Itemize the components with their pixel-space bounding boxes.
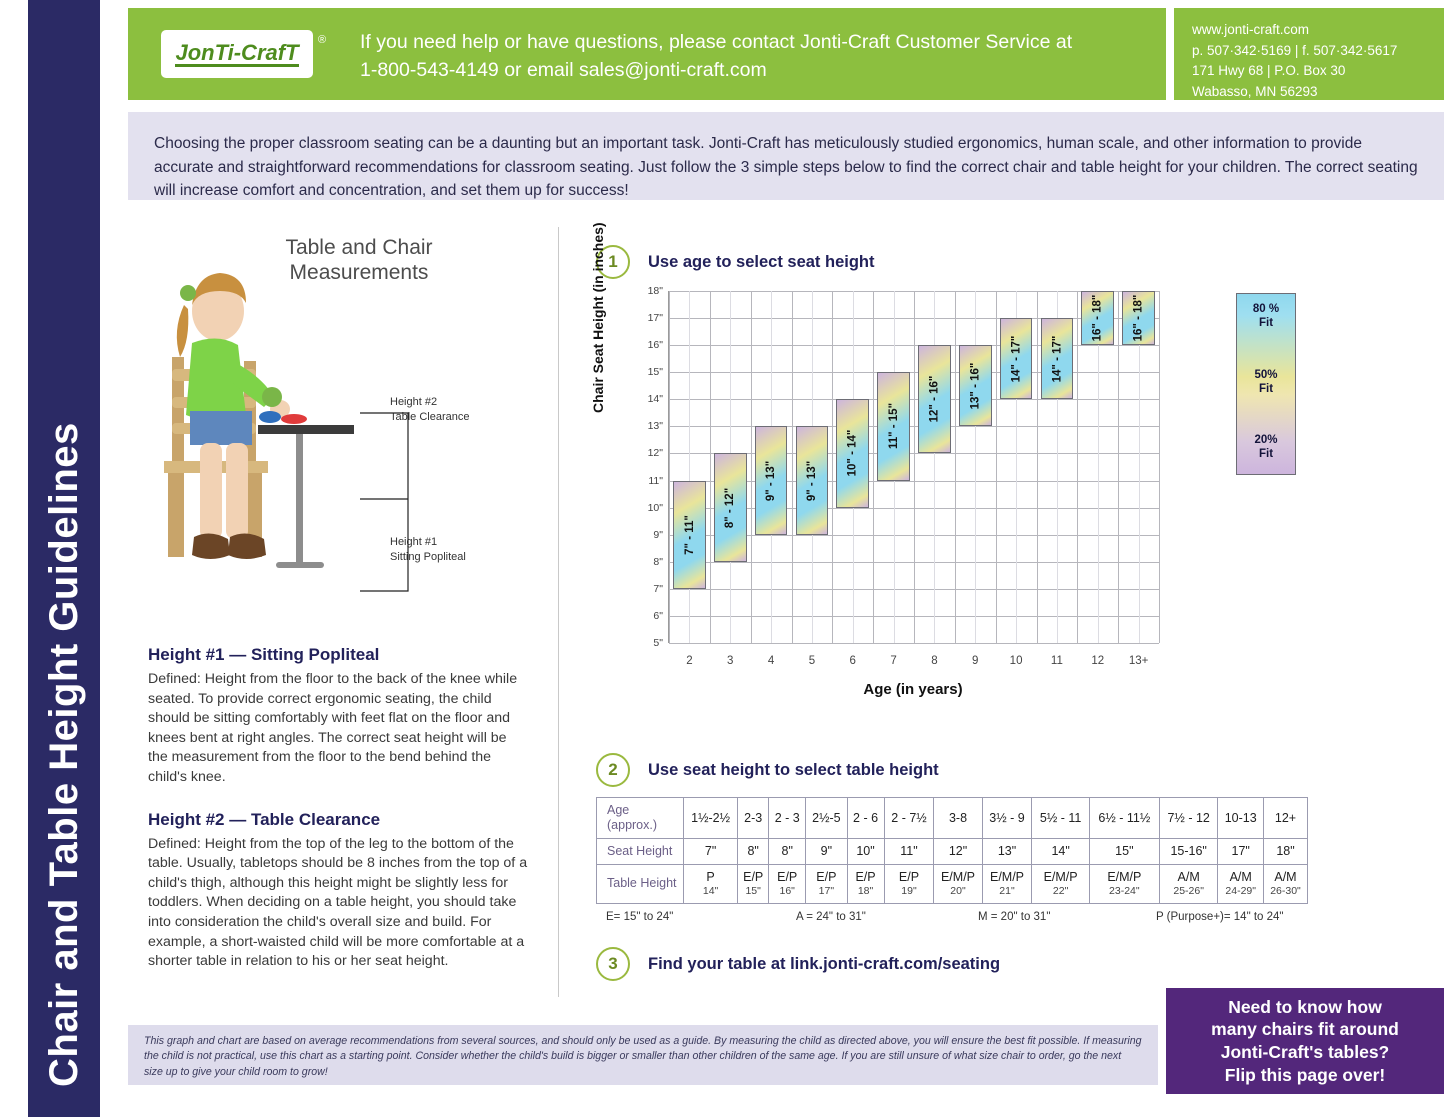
chart-x-tick: 11	[1051, 655, 1063, 667]
table-cell: 1½-2½	[684, 798, 738, 839]
header-message-line1: If you need help or have questions, plea…	[360, 28, 1150, 56]
chart-y-tick: 7"	[653, 583, 663, 595]
chart-bar: 16" - 18"	[1122, 291, 1155, 345]
chart-gridline-v	[1118, 291, 1119, 643]
table-cell: 14"	[1032, 839, 1089, 865]
chart-bar-label: 11" - 15"	[888, 403, 900, 449]
height-1-section: Height #1 — Sitting Popliteal Defined: H…	[148, 645, 528, 994]
contact-website[interactable]: www.jonti-craft.com	[1192, 20, 1444, 41]
chart-gridline-v	[914, 291, 915, 643]
table-cell: 2½-5	[806, 798, 847, 839]
chart-bar: 9" - 13"	[796, 426, 829, 534]
child-seated-photo	[148, 265, 358, 595]
table-cell: 2-3	[738, 798, 769, 839]
chart-gridline-v-minor	[689, 291, 690, 643]
chart-x-tick: 12	[1091, 655, 1104, 667]
header-message-line2: 1-800-543-4149 or email sales@jonti-craf…	[360, 56, 1150, 84]
contact-phone-fax: p. 507·342·5169 | f. 507·342·5617	[1192, 41, 1444, 62]
chart-x-tick: 7	[890, 655, 896, 667]
table-cell: E/P17"	[806, 865, 847, 904]
chart-x-tick: 9	[972, 655, 978, 667]
column-divider	[558, 227, 559, 997]
chart-y-tick: 18"	[648, 285, 663, 297]
header-banner: JonTi-CrafT ® If you need help or have q…	[128, 8, 1166, 100]
height-2-body: Defined: Height from the top of the leg …	[148, 835, 528, 972]
table-cell: 13"	[982, 839, 1032, 865]
chart-bar-label: 9" - 13"	[765, 460, 777, 500]
chart-bar: 16" - 18"	[1081, 291, 1114, 345]
chart-x-axis-label: Age (in years)	[668, 681, 1158, 698]
table-cell: 6½ - 11½	[1089, 798, 1159, 839]
table-row-header: Seat Height	[597, 839, 684, 865]
table-key-row: E= 15" to 24" A = 24" to 31" M = 20" to …	[596, 911, 1308, 927]
table-cell: E/P19"	[884, 865, 934, 904]
chart-gridline-v	[955, 291, 956, 643]
table-cell: E/P18"	[847, 865, 884, 904]
chart-plot-area: 5"6"7"8"9"10"11"12"13"14"15"16"17"18"7" …	[668, 291, 1159, 643]
contact-address-line1: 171 Hwy 68 | P.O. Box 30	[1192, 61, 1444, 82]
measurements-title-line1: Table and Chair	[178, 235, 540, 260]
seat-height-chart: Chair Seat Height (in inches) 5"6"7"8"9"…	[596, 283, 1426, 753]
table-row: Table HeightP14"E/P15"E/P16"E/P17"E/P18"…	[597, 865, 1308, 904]
chart-bar-label: 16" - 18"	[1133, 295, 1145, 342]
chart-gridline-h	[669, 643, 1159, 644]
chart-bar-label: 12" - 16"	[928, 376, 940, 423]
chart-y-tick: 16"	[648, 339, 663, 351]
chart-bar: 12" - 16"	[918, 345, 951, 453]
height-2-heading: Height #2 — Table Clearance	[148, 810, 528, 830]
chart-gridline-v	[873, 291, 874, 643]
chart-y-tick: 14"	[648, 393, 663, 405]
height-1-body: Defined: Height from the floor to the ba…	[148, 670, 528, 788]
table-cell: 5½ - 11	[1032, 798, 1089, 839]
chart-gridline-v	[710, 291, 711, 643]
chart-gridline-v	[792, 291, 793, 643]
chart-gridline-v	[996, 291, 997, 643]
table-cell: A/M24-29"	[1218, 865, 1264, 904]
height-1-heading: Height #1 — Sitting Popliteal	[148, 645, 528, 665]
table-cell: A/M26-30"	[1264, 865, 1308, 904]
chart-bar: 11" - 15"	[877, 372, 910, 480]
chart-bar-label: 16" - 18"	[1092, 295, 1104, 342]
chart-y-tick: 15"	[648, 366, 663, 378]
chart-y-tick: 6"	[653, 610, 663, 622]
table-cell: 2 - 7½	[884, 798, 934, 839]
chart-gridline-v	[1037, 291, 1038, 643]
table-cell: 17"	[1218, 839, 1264, 865]
table-cell: 7"	[684, 839, 738, 865]
chart-bar: 14" - 17"	[1041, 318, 1074, 399]
table-cell: 2 - 3	[769, 798, 806, 839]
chart-bar: 10" - 14"	[836, 399, 869, 507]
table-cell: 10"	[847, 839, 884, 865]
chart-x-tick: 10	[1010, 655, 1023, 667]
chart-y-tick: 5"	[653, 637, 663, 649]
vertical-title-bar: Chair and Table Height Guidelines	[28, 0, 100, 1117]
chart-y-tick: 10"	[648, 502, 663, 514]
chart-bar: 8" - 12"	[714, 453, 747, 561]
table-cell: 9"	[806, 839, 847, 865]
child-chair-illustration	[148, 265, 358, 595]
contact-address-line2: Wabasso, MN 56293	[1192, 82, 1444, 103]
seat-to-table-height-table: Age (approx.)1½-2½2-32 - 32½-52 - 62 - 7…	[596, 797, 1308, 904]
chart-y-tick: 12"	[648, 447, 663, 459]
flip-line4: Flip this page over!	[1225, 1065, 1385, 1085]
chart-gridline-v	[669, 291, 670, 643]
page-title: Chair and Table Height Guidelines	[28, 0, 100, 1117]
flip-page-callout: Need to know how many chairs fit around …	[1166, 988, 1444, 1094]
chart-y-tick: 11"	[648, 475, 663, 487]
table-cell: 15-16"	[1159, 839, 1217, 865]
chart-x-tick: 13+	[1129, 655, 1149, 667]
chart-bar-label: 14" - 17"	[1010, 335, 1022, 382]
step-3-header: 3 Find your table at link.jonti-craft.co…	[596, 947, 1000, 981]
chart-x-tick: 2	[686, 655, 692, 667]
step-3-label[interactable]: Find your table at link.jonti-craft.com/…	[648, 955, 1000, 974]
chart-bar-label: 13" - 16"	[969, 362, 981, 409]
flip-line1: Need to know how	[1228, 997, 1382, 1017]
chart-y-tick: 17"	[648, 312, 663, 324]
chart-fit-legend: 80 %Fit 50%Fit 20%Fit	[1236, 293, 1296, 475]
chart-bar: 13" - 16"	[959, 345, 992, 426]
table-cell: 12+	[1264, 798, 1308, 839]
step-1-label: Use age to select seat height	[648, 253, 875, 272]
table-cell: 3½ - 9	[982, 798, 1032, 839]
seat-table-wrap: Age (approx.)1½-2½2-32 - 32½-52 - 62 - 7…	[596, 797, 1426, 927]
chart-x-tick: 6	[850, 655, 856, 667]
intro-text: Choosing the proper classroom seating ca…	[128, 112, 1444, 203]
chart-y-tick: 9"	[653, 529, 663, 541]
chart-y-tick: 13"	[648, 420, 663, 432]
table-cell: P14"	[684, 865, 738, 904]
table-row-header: Age (approx.)	[597, 798, 684, 839]
main-content: Table and Chair Measurements	[128, 205, 1444, 1017]
table-cell: 10-13	[1218, 798, 1264, 839]
key-M: M = 20" to 31"	[978, 911, 1050, 923]
chart-gridline-v	[751, 291, 752, 643]
jonti-craft-logo: JonTi-CrafT	[161, 30, 313, 78]
table-cell: E/M/P23-24"	[1089, 865, 1159, 904]
table-cell: 8"	[769, 839, 806, 865]
footer-disclaimer-panel: This graph and chart are based on averag…	[128, 1025, 1158, 1085]
chart-x-tick: 5	[809, 655, 815, 667]
table-cell: 12"	[934, 839, 982, 865]
callout-bracket-lines	[360, 403, 420, 603]
chart-gridline-v-minor	[934, 291, 935, 643]
chart-bar: 9" - 13"	[755, 426, 788, 534]
table-cell: 18"	[1264, 839, 1308, 865]
chart-gridline-v	[832, 291, 833, 643]
contact-block: www.jonti-craft.com p. 507·342·5169 | f.…	[1174, 8, 1444, 100]
table-cell: 15"	[1089, 839, 1159, 865]
step-2-label: Use seat height to select table height	[648, 761, 939, 780]
table-row: Seat Height7"8"8"9"10"11"12"13"14"15"15-…	[597, 839, 1308, 865]
flip-line3: Jonti-Craft's tables?	[1221, 1042, 1390, 1062]
table-row: Age (approx.)1½-2½2-32 - 32½-52 - 62 - 7…	[597, 798, 1308, 839]
chart-gridline-v	[1159, 291, 1160, 643]
chart-y-axis-label: Chair Seat Height (in inches)	[590, 222, 606, 413]
table-cell: E/M/P21"	[982, 865, 1032, 904]
key-E: E= 15" to 24"	[606, 911, 673, 923]
table-cell: 3-8	[934, 798, 982, 839]
chart-bar: 14" - 17"	[1000, 318, 1033, 399]
chart-gridline-v	[1077, 291, 1078, 643]
table-cell: E/M/P22"	[1032, 865, 1089, 904]
table-cell: E/P15"	[738, 865, 769, 904]
header-message: If you need help or have questions, plea…	[360, 28, 1150, 85]
chart-bar-label: 8" - 12"	[724, 487, 736, 527]
chart-bar-label: 9" - 13"	[806, 460, 818, 500]
table-cell: A/M25-26"	[1159, 865, 1217, 904]
chart-x-tick: 4	[768, 655, 774, 667]
step-3-number: 3	[596, 947, 630, 981]
table-cell: 7½ - 12	[1159, 798, 1217, 839]
chart-x-tick: 8	[931, 655, 937, 667]
step-2-number: 2	[596, 753, 630, 787]
step-1-header: 1 Use age to select seat height	[596, 245, 1426, 279]
chart-x-tick: 3	[727, 655, 733, 667]
chart-bar-label: 7" - 11"	[683, 515, 695, 555]
table-cell: E/M/P20"	[934, 865, 982, 904]
key-A: A = 24" to 31"	[796, 911, 866, 923]
legend-entry-20: 20%Fit	[1254, 434, 1277, 462]
table-cell: 8"	[738, 839, 769, 865]
flip-line2: many chairs fit around	[1211, 1019, 1399, 1039]
intro-panel: Choosing the proper classroom seating ca…	[128, 112, 1444, 200]
chart-bar-label: 10" - 14"	[847, 430, 859, 477]
registered-mark-icon: ®	[318, 34, 326, 46]
chart-gridline-v-minor	[975, 291, 976, 643]
legend-entry-80: 80 %Fit	[1253, 303, 1279, 331]
table-row-header: Table Height	[597, 865, 684, 904]
chart-bar-label: 14" - 17"	[1051, 335, 1063, 382]
table-cell: 2 - 6	[847, 798, 884, 839]
legend-entry-50: 50%Fit	[1254, 369, 1277, 397]
chart-y-tick: 8"	[653, 556, 663, 568]
chart-bar: 7" - 11"	[673, 481, 706, 589]
logo-text: JonTi-CrafT	[175, 41, 298, 67]
table-cell: 11"	[884, 839, 934, 865]
table-cell: E/P16"	[769, 865, 806, 904]
step-2-header: 2 Use seat height to select table height	[596, 753, 1426, 787]
footer-disclaimer-text: This graph and chart are based on averag…	[128, 1025, 1158, 1080]
key-P: P (Purpose+)= 14" to 24"	[1156, 911, 1284, 923]
